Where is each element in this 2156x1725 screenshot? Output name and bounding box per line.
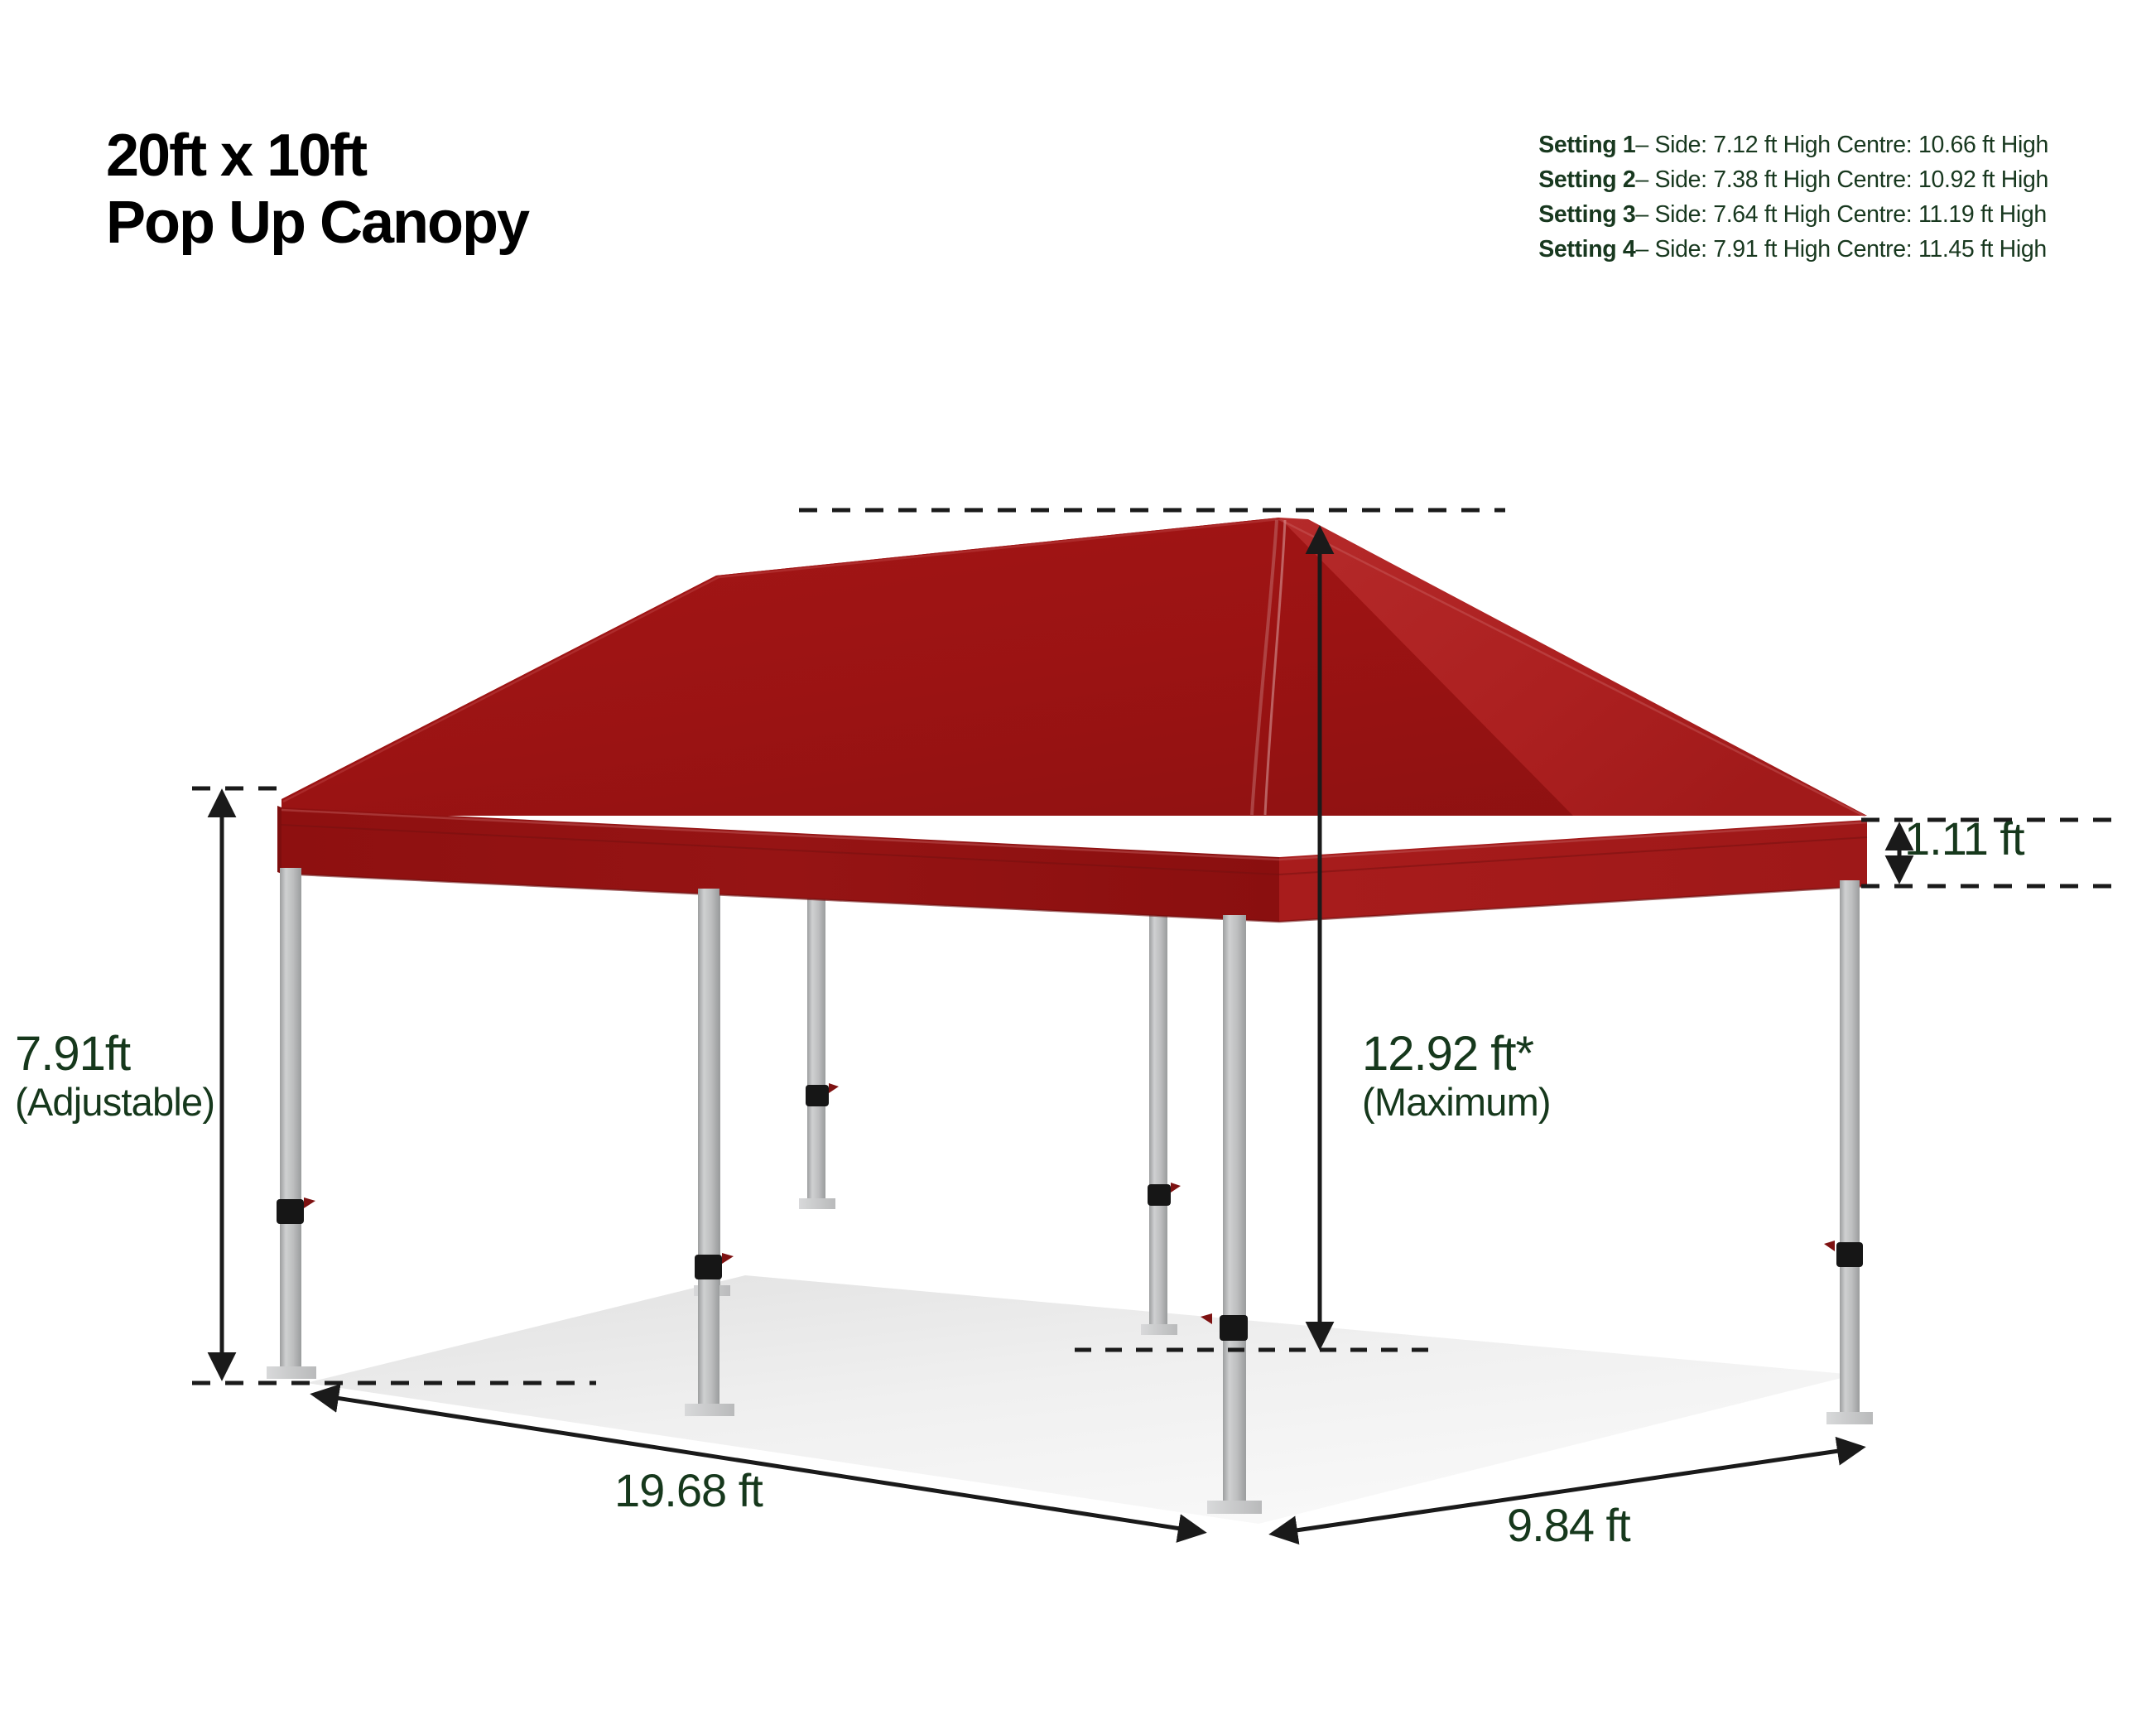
leg-back-right <box>1141 896 1181 1335</box>
page-title: 20ft x 10ft Pop Up Canopy <box>106 123 1017 256</box>
height-settings-list: Setting 1– Side: 7.12 ft High Centre: 10… <box>1538 128 2048 267</box>
leg-clip-icon <box>1836 1242 1863 1267</box>
setting-row: Setting 2– Side: 7.38 ft High Centre: 10… <box>1538 163 2048 198</box>
side-height-value: 7.91ft <box>15 1029 214 1081</box>
setting-detail: – Side: 7.12 ft High Centre: 10.66 ft Hi… <box>1635 132 2048 158</box>
setting-label: Setting 2 <box>1538 166 1635 193</box>
setting-label: Setting 1 <box>1538 132 1635 158</box>
canopy-roof <box>282 518 1867 817</box>
setting-detail: – Side: 7.38 ft High Centre: 10.92 ft Hi… <box>1635 166 2048 193</box>
leg-clip-icon <box>277 1199 304 1224</box>
setting-label: Setting 4 <box>1538 236 1635 263</box>
title-line-2: Pop Up Canopy <box>106 190 1017 257</box>
setting-detail: – Side: 7.91 ft High Centre: 11.45 ft Hi… <box>1635 236 2047 263</box>
valance-height-label: 1.11 ft <box>1904 814 2024 864</box>
leg-clip-icon <box>695 1255 722 1279</box>
side-height-label: 7.91ft (Adjustable) <box>15 1029 214 1123</box>
canopy-valance <box>277 806 1867 922</box>
centre-height-value: 12.92 ft* <box>1362 1029 1551 1081</box>
leg-clip-icon <box>1220 1315 1248 1341</box>
setting-label: Setting 3 <box>1538 201 1635 228</box>
setting-detail: – Side: 7.64 ft High Centre: 11.19 ft Hi… <box>1635 201 2047 228</box>
centre-height-label: 12.92 ft* (Maximum) <box>1362 1029 1551 1123</box>
setting-row: Setting 4– Side: 7.91 ft High Centre: 11… <box>1538 233 2048 267</box>
title-line-1: 20ft x 10ft <box>106 123 1017 190</box>
leg-front-left <box>267 868 316 1379</box>
leg-clip-icon <box>806 1085 829 1106</box>
width-label: 9.84 ft <box>1507 1501 1630 1550</box>
side-height-note: (Adjustable) <box>15 1081 214 1124</box>
setting-row: Setting 1– Side: 7.12 ft High Centre: 10… <box>1538 128 2048 163</box>
canopy-spec-sheet: 20ft x 10ft Pop Up Canopy Setting 1– Sid… <box>0 0 2156 1725</box>
setting-row: Setting 3– Side: 7.64 ft High Centre: 11… <box>1538 198 2048 233</box>
leg-right <box>1824 880 1873 1424</box>
centre-height-note: (Maximum) <box>1362 1081 1551 1124</box>
legs-back-group <box>694 878 1181 1335</box>
length-label: 19.68 ft <box>614 1466 763 1515</box>
ground-plane <box>306 1275 1855 1524</box>
leg-clip-icon <box>1148 1184 1171 1206</box>
